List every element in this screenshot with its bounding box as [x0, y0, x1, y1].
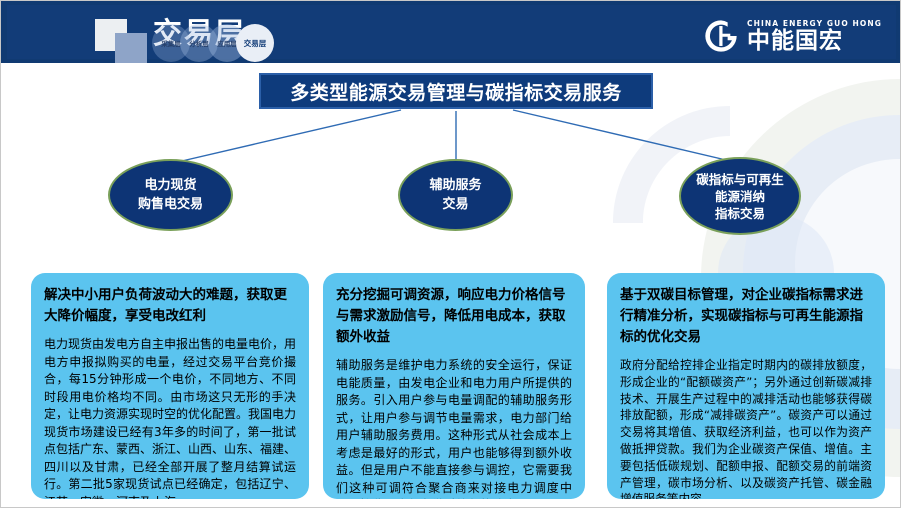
node-spot-power-trading[interactable]: 电力现货 购售电交易	[108, 159, 233, 231]
slide-root: 交易层 采集层 分析层 应用层 交易层	[0, 0, 901, 508]
node-label-line: 碳指标与可再生	[696, 171, 784, 188]
node-label-line: 辅助服务	[429, 176, 481, 195]
node-label-line: 能源消纳	[696, 188, 784, 205]
main-title-banner: 多类型能源交易管理与碳指标交易服务	[259, 73, 653, 109]
node-label-group: 电力现货 购售电交易	[138, 176, 203, 214]
node-ancillary-service-trading[interactable]: 辅助服务 交易	[398, 159, 513, 231]
node-carbon-renewable-trading[interactable]: 碳指标与可再生 能源消纳 指标交易	[679, 157, 801, 235]
node-label-line: 电力现货	[138, 176, 203, 195]
card-carbon-renewable-trading: 基于双碳目标管理，对企业碳指标需求进行精准分析，实现碳指标与可再生能源指标的优化…	[607, 273, 885, 499]
node-label-group: 碳指标与可再生 能源消纳 指标交易	[696, 171, 784, 222]
main-title-text: 多类型能源交易管理与碳指标交易服务	[290, 78, 622, 105]
card-heading: 充分挖掘可调资源，响应电力价格信号与需求激励信号，降低用电成本，获取额外收益	[336, 285, 572, 348]
card-heading: 解决中小用户负荷波动大的难题，获取更大降价幅度，享受电改红利	[44, 285, 296, 327]
node-label-group: 辅助服务 交易	[429, 176, 481, 214]
node-label-line: 交易	[429, 195, 481, 214]
card-ancillary-service-trading: 充分挖掘可调资源，响应电力价格信号与需求激励信号，降低用电成本，获取额外收益 辅…	[323, 273, 585, 499]
card-body-text: 辅助服务是维护电力系统的安全运行，保证电能质量，由发电企业和电力用户所提供的服务…	[336, 357, 572, 499]
card-body-text: 电力现货由发电方自主申报出售的电量电价，用电方申报拟购买的电量，经过交易平台竞价…	[44, 336, 296, 499]
node-label-line: 购售电交易	[138, 195, 203, 214]
card-heading: 基于双碳目标管理，对企业碳指标需求进行精准分析，实现碳指标与可再生能源指标的优化…	[620, 285, 872, 348]
card-body-text: 政府分配给控排企业指定时期内的碳排放额度，形成企业的“配额碳资产”；另外通过创新…	[620, 357, 872, 499]
card-spot-power-trading: 解决中小用户负荷波动大的难题，获取更大降价幅度，享受电改红利 电力现货由发电方自…	[31, 273, 309, 499]
node-label-line: 指标交易	[696, 205, 784, 222]
